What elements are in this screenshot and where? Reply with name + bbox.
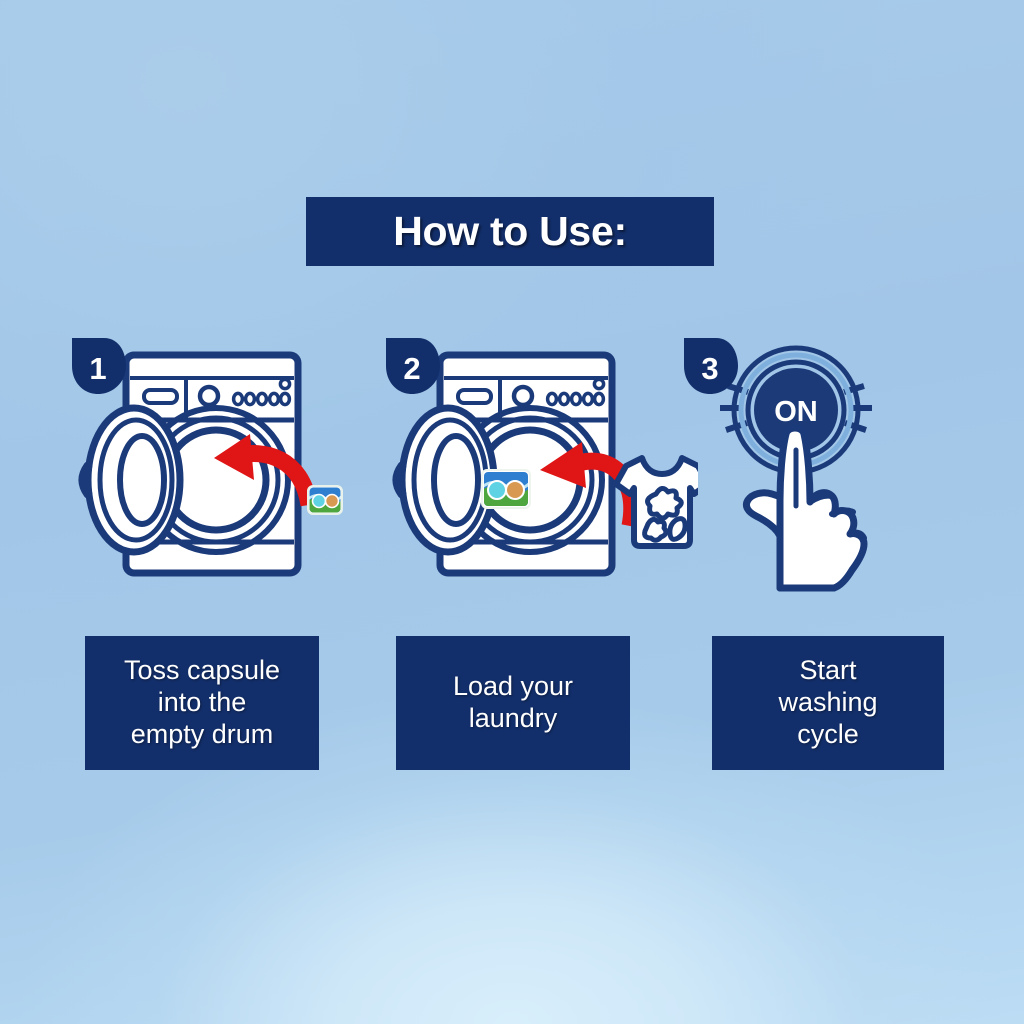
caption-box-step-3: Start washing cycle bbox=[712, 636, 944, 770]
caption-box-step-1: Toss capsule into the empty drum bbox=[85, 636, 319, 770]
step-2: 2 bbox=[378, 330, 698, 600]
machine-door-open-1 bbox=[83, 408, 180, 552]
page-title: How to Use: bbox=[393, 208, 627, 255]
title-banner: How to Use: bbox=[306, 197, 714, 266]
step-2-illustration: 2 bbox=[378, 330, 698, 600]
step-1-illustration: 1 bbox=[64, 330, 384, 600]
step-number-1: 1 bbox=[89, 351, 106, 386]
step-badge-3: 3 bbox=[684, 338, 738, 394]
step-number-3: 3 bbox=[701, 351, 718, 386]
caption-text-step-2: Load your laundry bbox=[453, 671, 573, 735]
caption-box-step-2: Load your laundry bbox=[396, 636, 630, 770]
step-3-illustration: ON 3 bbox=[676, 330, 916, 600]
on-button-label: ON bbox=[774, 396, 818, 428]
infographic-canvas: How to Use: bbox=[0, 0, 1024, 1024]
step-1: 1 bbox=[64, 330, 384, 600]
step-badge-1: 1 bbox=[72, 338, 126, 394]
step-number-2: 2 bbox=[403, 351, 420, 386]
caption-text-step-1: Toss capsule into the empty drum bbox=[124, 655, 280, 751]
detergent-capsule-1 bbox=[308, 486, 342, 514]
detergent-capsule-2 bbox=[482, 470, 530, 508]
step-badge-2: 2 bbox=[386, 338, 440, 394]
step-3: ON 3 bbox=[676, 330, 916, 600]
machine-door-open-2 bbox=[397, 408, 494, 552]
caption-text-step-3: Start washing cycle bbox=[778, 655, 877, 751]
